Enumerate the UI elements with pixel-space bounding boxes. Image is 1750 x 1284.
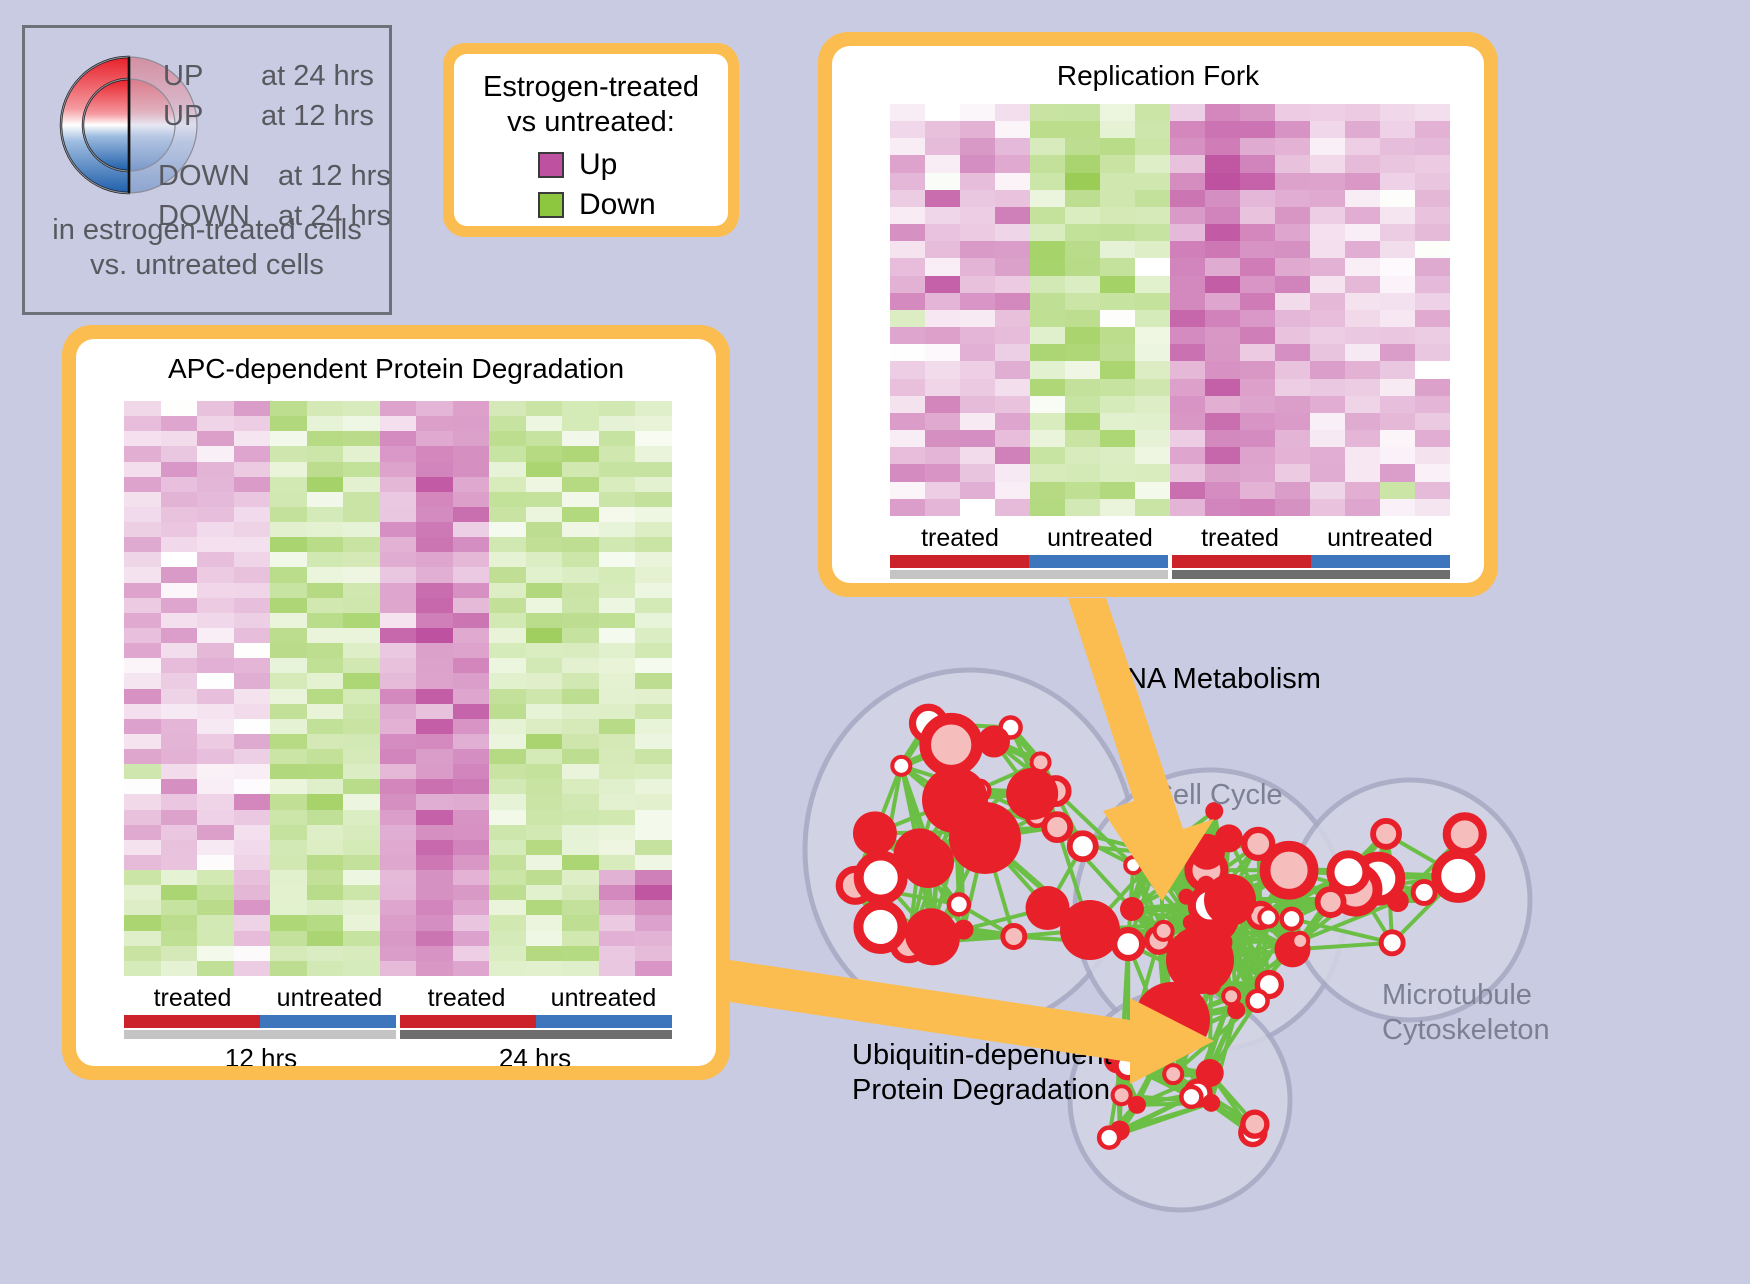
heatmap-cell (307, 779, 344, 794)
heatmap-cell (562, 477, 599, 492)
heatmap-cell (1170, 327, 1205, 344)
heatmap-cell (416, 825, 453, 840)
heatmap-cell (380, 704, 417, 719)
network-node (1436, 854, 1480, 898)
heatmap-cell (1380, 138, 1415, 155)
heatmap-cell (270, 810, 307, 825)
heatmap-cell (416, 613, 453, 628)
heatmap-cell (197, 961, 234, 976)
axis-group-labels: treateduntreatedtreateduntreated (124, 984, 672, 1013)
heatmap-cell (1380, 482, 1415, 499)
heatmap-cell (1065, 310, 1100, 327)
heatmap-cell (599, 794, 636, 809)
heatmap-cell (1345, 396, 1380, 413)
heatmap-cell (234, 855, 271, 870)
heatmap-cell (1275, 173, 1310, 190)
heatmap-cell (453, 416, 490, 431)
heatmap-cell (343, 613, 380, 628)
heatmap-cell (343, 689, 380, 704)
heatmap-cell (124, 855, 161, 870)
network-node (1155, 922, 1173, 940)
heatmap-cell (1065, 293, 1100, 310)
heatmap-cell (1170, 155, 1205, 172)
heatmap-cell (960, 327, 995, 344)
heatmap-cell (453, 598, 490, 613)
heatmap-cell (960, 361, 995, 378)
network-node (1259, 909, 1277, 927)
heatmap-cell (599, 583, 636, 598)
network-node (1070, 833, 1096, 859)
heatmap-cell (1205, 155, 1240, 172)
heatmap-cell (234, 840, 271, 855)
heatmap-cell (343, 900, 380, 915)
heatmap-cell (1240, 464, 1275, 481)
heatmap-cell (197, 446, 234, 461)
heatmap-cell (1170, 276, 1205, 293)
heatmap-cell (960, 207, 995, 224)
heatmap-cell (197, 658, 234, 673)
axis-timepoint-bar (124, 1030, 672, 1039)
heatmap-cell (599, 870, 636, 885)
heatmap-cell (599, 749, 636, 764)
heatmap-cell (526, 915, 563, 930)
heatmap-cell (1345, 447, 1380, 464)
heatmap-cell (416, 734, 453, 749)
axis-timepoint-segment (890, 570, 1168, 579)
heatmap-cell (489, 840, 526, 855)
heatmap-cell (307, 840, 344, 855)
heatmap-cell (562, 401, 599, 416)
heatmap-cell (416, 794, 453, 809)
heatmap-cell (1240, 413, 1275, 430)
heatmap-cell (307, 613, 344, 628)
heatmap-cell (1135, 224, 1170, 241)
heatmap-cell (1170, 138, 1205, 155)
heatmap-cell (1275, 344, 1310, 361)
heatmap-cell (1345, 138, 1380, 155)
heatmap-cell (380, 931, 417, 946)
heatmap-cell (1380, 190, 1415, 207)
heatmap-cell (416, 658, 453, 673)
heatmap-cell (234, 492, 271, 507)
network-node (1330, 854, 1366, 890)
heatmap-cell (307, 552, 344, 567)
heatmap-cell (161, 885, 198, 900)
heatmap-cell (1275, 104, 1310, 121)
heatmap-cell (1380, 155, 1415, 172)
heatmap-cell (1345, 258, 1380, 275)
heatmap-cell (635, 552, 672, 567)
heatmap-cell (1310, 190, 1345, 207)
heatmap-cell (599, 401, 636, 416)
heatmap-cell (526, 522, 563, 537)
heatmap-cell (234, 749, 271, 764)
heatmap-cell (307, 915, 344, 930)
heatmap-cell (270, 416, 307, 431)
heatmap-cell (270, 704, 307, 719)
heatmap-cell (380, 764, 417, 779)
color-key-title: Estrogen-treated vs untreated: (454, 70, 728, 140)
heatmap-cell (1415, 327, 1450, 344)
network-node (1128, 1096, 1146, 1114)
heatmap-cell (416, 462, 453, 477)
cluster-label-ubiquitin-line1: Ubiquitin-dependent (852, 1038, 1112, 1073)
heatmap-cell (960, 155, 995, 172)
heatmap-cell (453, 734, 490, 749)
heatmap-cell (416, 961, 453, 976)
heatmap-cell (124, 431, 161, 446)
heatmap-cell (234, 537, 271, 552)
heatmap-cell (562, 416, 599, 431)
heatmap-cell (197, 583, 234, 598)
heatmap-cell (1310, 396, 1345, 413)
heatmap-cell (925, 258, 960, 275)
heatmap-cell (489, 734, 526, 749)
heatmap-cell (960, 224, 995, 241)
heatmap-cell (635, 673, 672, 688)
heatmap-cell (380, 552, 417, 567)
heatmap-cell (380, 416, 417, 431)
heatmap-cell (526, 613, 563, 628)
axis-group-bar (1172, 555, 1311, 568)
heatmap-cell (1205, 464, 1240, 481)
heatmap-cell (1345, 361, 1380, 378)
down-color-swatch (538, 192, 564, 218)
heatmap-cell (489, 870, 526, 885)
heatmap-cell (124, 643, 161, 658)
heatmap-cell (197, 794, 234, 809)
heatmap-cell (197, 507, 234, 522)
heatmap-cell (562, 961, 599, 976)
heatmap-cell (960, 499, 995, 516)
heatmap-cell (270, 401, 307, 416)
heatmap-cell (453, 870, 490, 885)
heatmap-cell (197, 492, 234, 507)
heatmap-cell (197, 673, 234, 688)
heatmap-cell (1205, 413, 1240, 430)
heatmap-cell (635, 643, 672, 658)
heatmap-cell (960, 104, 995, 121)
heatmap-cell (343, 734, 380, 749)
heatmap-cell (416, 416, 453, 431)
heatmap-cell (925, 241, 960, 258)
heatmap-cell (416, 431, 453, 446)
network-node (1447, 816, 1483, 852)
heatmap-cell (1065, 396, 1100, 413)
heatmap-cell (635, 704, 672, 719)
heatmap-cell (599, 840, 636, 855)
heatmap-cell (1065, 499, 1100, 516)
heatmap-cell (416, 401, 453, 416)
heatmap-cell (599, 915, 636, 930)
heatmap-cell (890, 121, 925, 138)
heatmap-cell (1170, 293, 1205, 310)
heatmap-cell (343, 719, 380, 734)
heatmap-cell (197, 764, 234, 779)
heatmap-cell (489, 552, 526, 567)
network-node (905, 908, 957, 960)
heatmap-cell (1380, 327, 1415, 344)
heatmap-cell (1275, 379, 1310, 396)
heatmap-cell (1135, 396, 1170, 413)
heatmap-cell (960, 138, 995, 155)
heatmap-cell (635, 416, 672, 431)
heatmap-cell (124, 462, 161, 477)
network-node (902, 836, 954, 888)
heatmap-cell (1205, 258, 1240, 275)
heatmap-cell (270, 931, 307, 946)
heatmap-cell (234, 401, 271, 416)
heatmap-cell (270, 598, 307, 613)
heatmap-cell (890, 464, 925, 481)
heatmap-cell (1100, 104, 1135, 121)
heatmap-cell (562, 613, 599, 628)
heatmap-cell (599, 416, 636, 431)
heatmap-cell (197, 719, 234, 734)
axis-hours-label: 12 hrs (124, 1043, 398, 1066)
heatmap-cell (526, 704, 563, 719)
heatmap-cell (1170, 224, 1205, 241)
heatmap-cell (1415, 413, 1450, 430)
heatmap-cell (489, 961, 526, 976)
heatmap-cell (1345, 241, 1380, 258)
heatmap-cell (635, 779, 672, 794)
heatmap-cell (599, 855, 636, 870)
heatmap-cell (925, 413, 960, 430)
heatmap-cell (925, 173, 960, 190)
heatmap-cell (1030, 138, 1065, 155)
heatmap-cell (1415, 155, 1450, 172)
heatmap-cell (1415, 138, 1450, 155)
heatmap-cell (380, 961, 417, 976)
heatmap-cell (1275, 413, 1310, 430)
heatmap-cell (1275, 224, 1310, 241)
heatmap-cell (270, 431, 307, 446)
heatmap-cell (1240, 173, 1275, 190)
heatmap-cell (562, 492, 599, 507)
heatmap-cell (489, 462, 526, 477)
heatmap-cell (635, 961, 672, 976)
heatmap-cell (453, 673, 490, 688)
heatmap-cell (343, 810, 380, 825)
heatmap-cell (1345, 276, 1380, 293)
heatmap-cell (1240, 430, 1275, 447)
heatmap-cell (995, 499, 1030, 516)
heatmap-cell (124, 401, 161, 416)
heatmap-cell (526, 658, 563, 673)
heatmap-cell (234, 734, 271, 749)
axis-group-bar (400, 1015, 536, 1028)
heatmap-cell (635, 492, 672, 507)
heatmap-cell (380, 900, 417, 915)
heatmap-cell (1205, 396, 1240, 413)
heatmap-cell (599, 431, 636, 446)
heatmap-cell (343, 431, 380, 446)
heatmap-cell (270, 492, 307, 507)
heatmap-cell (635, 583, 672, 598)
heatmap-cell (890, 396, 925, 413)
heatmap-cell (995, 344, 1030, 361)
heatmap-cell (380, 855, 417, 870)
heatmap-cell (124, 885, 161, 900)
heatmap-cell (1240, 207, 1275, 224)
heatmap-cell (1030, 482, 1065, 499)
pathway-network: DNA Metabolism Cell Cycle Microtubule Cy… (760, 600, 1750, 1279)
heatmap-cell (270, 961, 307, 976)
legend-footer: in estrogen-treated cells vs. untreated … (25, 213, 389, 284)
network-node (1125, 857, 1141, 873)
heatmap-cell (416, 900, 453, 915)
heatmap-cell (526, 764, 563, 779)
heatmap-cell (599, 961, 636, 976)
heatmap-cell (599, 931, 636, 946)
heatmap-cell (526, 446, 563, 461)
heatmap-cell (416, 870, 453, 885)
heatmap-cell (453, 749, 490, 764)
heatmap-cell (1065, 361, 1100, 378)
heatmap-cell (1415, 276, 1450, 293)
heatmap-cell (343, 764, 380, 779)
heatmap-cell (453, 613, 490, 628)
heatmap-cell (526, 719, 563, 734)
heatmap-cell (197, 915, 234, 930)
heatmap-cell (562, 794, 599, 809)
heatmap-cell (234, 673, 271, 688)
heatmap-cell (161, 537, 198, 552)
heatmap-cell (416, 522, 453, 537)
heatmap-cell (925, 138, 960, 155)
heatmap-cell (635, 477, 672, 492)
heatmap-cell (1415, 121, 1450, 138)
heatmap-cell (526, 416, 563, 431)
heatmap-cell (307, 734, 344, 749)
heatmap-cell (380, 794, 417, 809)
heatmap-cell (1415, 224, 1450, 241)
heatmap-cell (1205, 190, 1240, 207)
heatmap-cell (343, 552, 380, 567)
heatmap-cell (1240, 499, 1275, 516)
heatmap-cell (1100, 344, 1135, 361)
heatmap-cell (1275, 327, 1310, 344)
network-node (1204, 874, 1256, 926)
heatmap-cell (1240, 155, 1275, 172)
heatmap-cell (995, 482, 1030, 499)
heatmap-cell (1345, 430, 1380, 447)
heatmap-cell (489, 825, 526, 840)
heatmap-cell (343, 946, 380, 961)
heatmap-cell (1100, 138, 1135, 155)
heatmap-cell (1380, 499, 1415, 516)
legend-time-down-12: at 12 hrs (278, 160, 391, 193)
heatmap-cell (1100, 173, 1135, 190)
heatmap-cell (526, 598, 563, 613)
heatmap-cell (1310, 207, 1345, 224)
axis-group-bar (1029, 555, 1168, 568)
heatmap-cell (489, 749, 526, 764)
heatmap-cell (489, 507, 526, 522)
heatmap-cell (124, 719, 161, 734)
heatmap-cell (1135, 276, 1170, 293)
heatmap-cell (380, 613, 417, 628)
heatmap-cell (995, 121, 1030, 138)
heatmap-cell (890, 482, 925, 499)
heatmap-cell (1345, 379, 1380, 396)
heatmap-cell (380, 537, 417, 552)
heatmap-cell (1100, 464, 1135, 481)
heatmap-cell (270, 643, 307, 658)
heatmap-cell (925, 379, 960, 396)
heatmap-cell (197, 840, 234, 855)
heatmap-cell (197, 643, 234, 658)
heatmap-cell (270, 628, 307, 643)
network-node (1387, 890, 1409, 912)
heatmap-cell (453, 567, 490, 582)
heatmap-cell (995, 310, 1030, 327)
heatmap-cell (161, 643, 198, 658)
heatmap-cell (1170, 361, 1205, 378)
heatmap-cell (890, 224, 925, 241)
heatmap-cell (453, 658, 490, 673)
heatmap-cell (307, 507, 344, 522)
heatmap-cell (234, 643, 271, 658)
heatmap-cell (270, 749, 307, 764)
axis-timepoint-segment (400, 1030, 672, 1039)
heatmap-cell (453, 401, 490, 416)
heatmap-cell (890, 499, 925, 516)
axis-group-bar (260, 1015, 396, 1028)
heatmap-cell (416, 492, 453, 507)
heatmap-cell (453, 825, 490, 840)
axis-timepoint-segment (124, 1030, 396, 1039)
heatmap-cell (890, 241, 925, 258)
heatmap-cell (1345, 224, 1380, 241)
heatmap-cell (197, 401, 234, 416)
heatmap-cell (380, 885, 417, 900)
heatmap-cell (635, 431, 672, 446)
heatmap-cell (197, 522, 234, 537)
heatmap-cell (960, 276, 995, 293)
heatmap-cell (343, 628, 380, 643)
network-node (1244, 830, 1272, 858)
heatmap-cell (1415, 207, 1450, 224)
network-node (1248, 991, 1268, 1011)
replication-fork-heatmap (890, 104, 1450, 516)
heatmap-cell (635, 885, 672, 900)
heatmap-cell (234, 507, 271, 522)
heatmap-cell (380, 643, 417, 658)
heatmap-cell (599, 810, 636, 825)
heatmap-cell (489, 946, 526, 961)
heatmap-cell (161, 749, 198, 764)
heatmap-cell (1310, 155, 1345, 172)
heatmap-cell (1030, 413, 1065, 430)
heatmap-cell (925, 207, 960, 224)
heatmap-cell (161, 779, 198, 794)
heatmap-cell (995, 173, 1030, 190)
heatmap-cell (1205, 276, 1240, 293)
heatmap-cell (635, 840, 672, 855)
heatmap-cell (270, 507, 307, 522)
heatmap-cell (380, 446, 417, 461)
axis-group-label: treated (398, 984, 535, 1013)
heatmap-cell (307, 719, 344, 734)
heatmap-cell (1310, 293, 1345, 310)
heatmap-cell (635, 507, 672, 522)
heatmap-cell (635, 446, 672, 461)
heatmap-cell (343, 598, 380, 613)
heatmap-cell (124, 628, 161, 643)
heatmap-cell (161, 673, 198, 688)
